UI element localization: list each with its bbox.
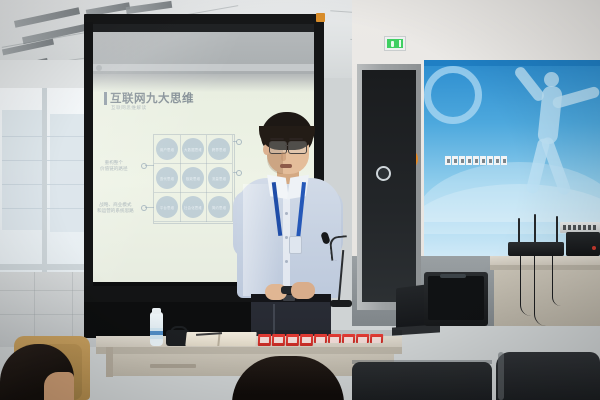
screen-top-bar <box>84 14 324 24</box>
red-gift-box-row <box>258 334 383 346</box>
red-gift-box <box>300 334 313 346</box>
patch-port[interactable] <box>583 225 586 230</box>
patch-port[interactable] <box>593 225 596 230</box>
router-antenna <box>534 214 536 244</box>
amplifier-unit <box>566 232 600 256</box>
wall-plaque <box>459 156 465 165</box>
ceiling-light-fixture <box>126 1 173 14</box>
presenter-hand-right <box>291 282 315 299</box>
wall-plaque-row <box>445 156 507 165</box>
glasses-bridge <box>285 145 288 146</box>
router-antenna <box>518 218 520 244</box>
monitor-highlight <box>440 274 466 278</box>
sliding-glass-door[interactable] <box>362 70 416 302</box>
audience-face <box>44 372 74 400</box>
red-gift-box <box>314 334 327 343</box>
patch-port[interactable] <box>563 225 566 230</box>
presenter <box>225 112 345 347</box>
exit-icon <box>387 39 403 48</box>
window-mullion <box>42 88 47 278</box>
screen-pull-tab[interactable] <box>316 13 325 22</box>
wall-plaque <box>487 156 493 165</box>
eyebrow-right <box>289 138 303 140</box>
outside-building <box>2 110 42 230</box>
presenter-nose <box>281 152 286 161</box>
patch-port[interactable] <box>568 225 571 230</box>
building-floor-line <box>2 160 94 161</box>
shirt-button <box>285 212 288 215</box>
red-gift-box <box>258 334 271 346</box>
red-gift-box <box>328 334 341 343</box>
window-sill <box>0 264 96 270</box>
cable <box>534 256 549 326</box>
glasses-lens-right <box>288 141 307 154</box>
audience-chair-dark <box>496 352 600 400</box>
microphone-base <box>330 300 352 307</box>
emergency-exit-sign <box>384 36 406 51</box>
table-cable-slot <box>150 364 196 368</box>
red-gift-box <box>272 334 285 346</box>
table-leg <box>106 347 113 377</box>
building-floor-line <box>2 136 94 137</box>
mural-figure-ring <box>424 66 482 124</box>
patch-port[interactable] <box>588 225 591 230</box>
wireless-router <box>508 242 564 256</box>
mural-figure-head <box>544 72 559 87</box>
monitor-screen[interactable] <box>428 276 484 320</box>
cable <box>520 256 531 316</box>
wall-plaque <box>480 156 486 165</box>
shirt-button <box>285 260 288 263</box>
red-gift-box <box>286 334 299 346</box>
power-led-icon <box>592 246 596 250</box>
ceiling-light-fixture <box>14 7 80 28</box>
wall-plaque <box>501 156 507 165</box>
presenter-table-edge <box>96 347 402 354</box>
wall-plaque <box>452 156 458 165</box>
door-handle[interactable] <box>376 166 391 181</box>
router-antenna <box>556 216 558 244</box>
cable <box>552 256 561 306</box>
bottle-cap <box>152 308 161 314</box>
red-gift-box <box>370 334 383 343</box>
microphone-gooseneck <box>329 235 349 261</box>
red-gift-box <box>356 334 369 343</box>
red-gift-box <box>342 334 355 343</box>
screen-left-rail <box>84 22 93 302</box>
wall-plaque <box>473 156 479 165</box>
building-floor-line <box>2 208 94 209</box>
wall-plaque <box>494 156 500 165</box>
shirt-button <box>285 236 288 239</box>
shirt-collar-left <box>267 175 289 200</box>
shirt-collar-right <box>287 175 309 200</box>
eyebrow-left <box>270 138 284 140</box>
chair-rim <box>498 352 504 400</box>
building-floor-line <box>2 184 94 185</box>
presenter-mouth <box>280 164 292 168</box>
wall-plaque <box>466 156 472 165</box>
patch-port[interactable] <box>573 225 576 230</box>
presentation-room-photo: 互联网九大思维 互联网思维解读 重构整个 价值链的路径 战略、商业模式 和运营的… <box>0 0 600 400</box>
lanyard-badge <box>289 236 302 254</box>
patch-port[interactable] <box>578 225 581 230</box>
audience-chair-dark <box>352 362 492 400</box>
wall-plaque <box>445 156 451 165</box>
window-wall <box>0 88 96 278</box>
bottle-label-stripe <box>150 331 163 335</box>
